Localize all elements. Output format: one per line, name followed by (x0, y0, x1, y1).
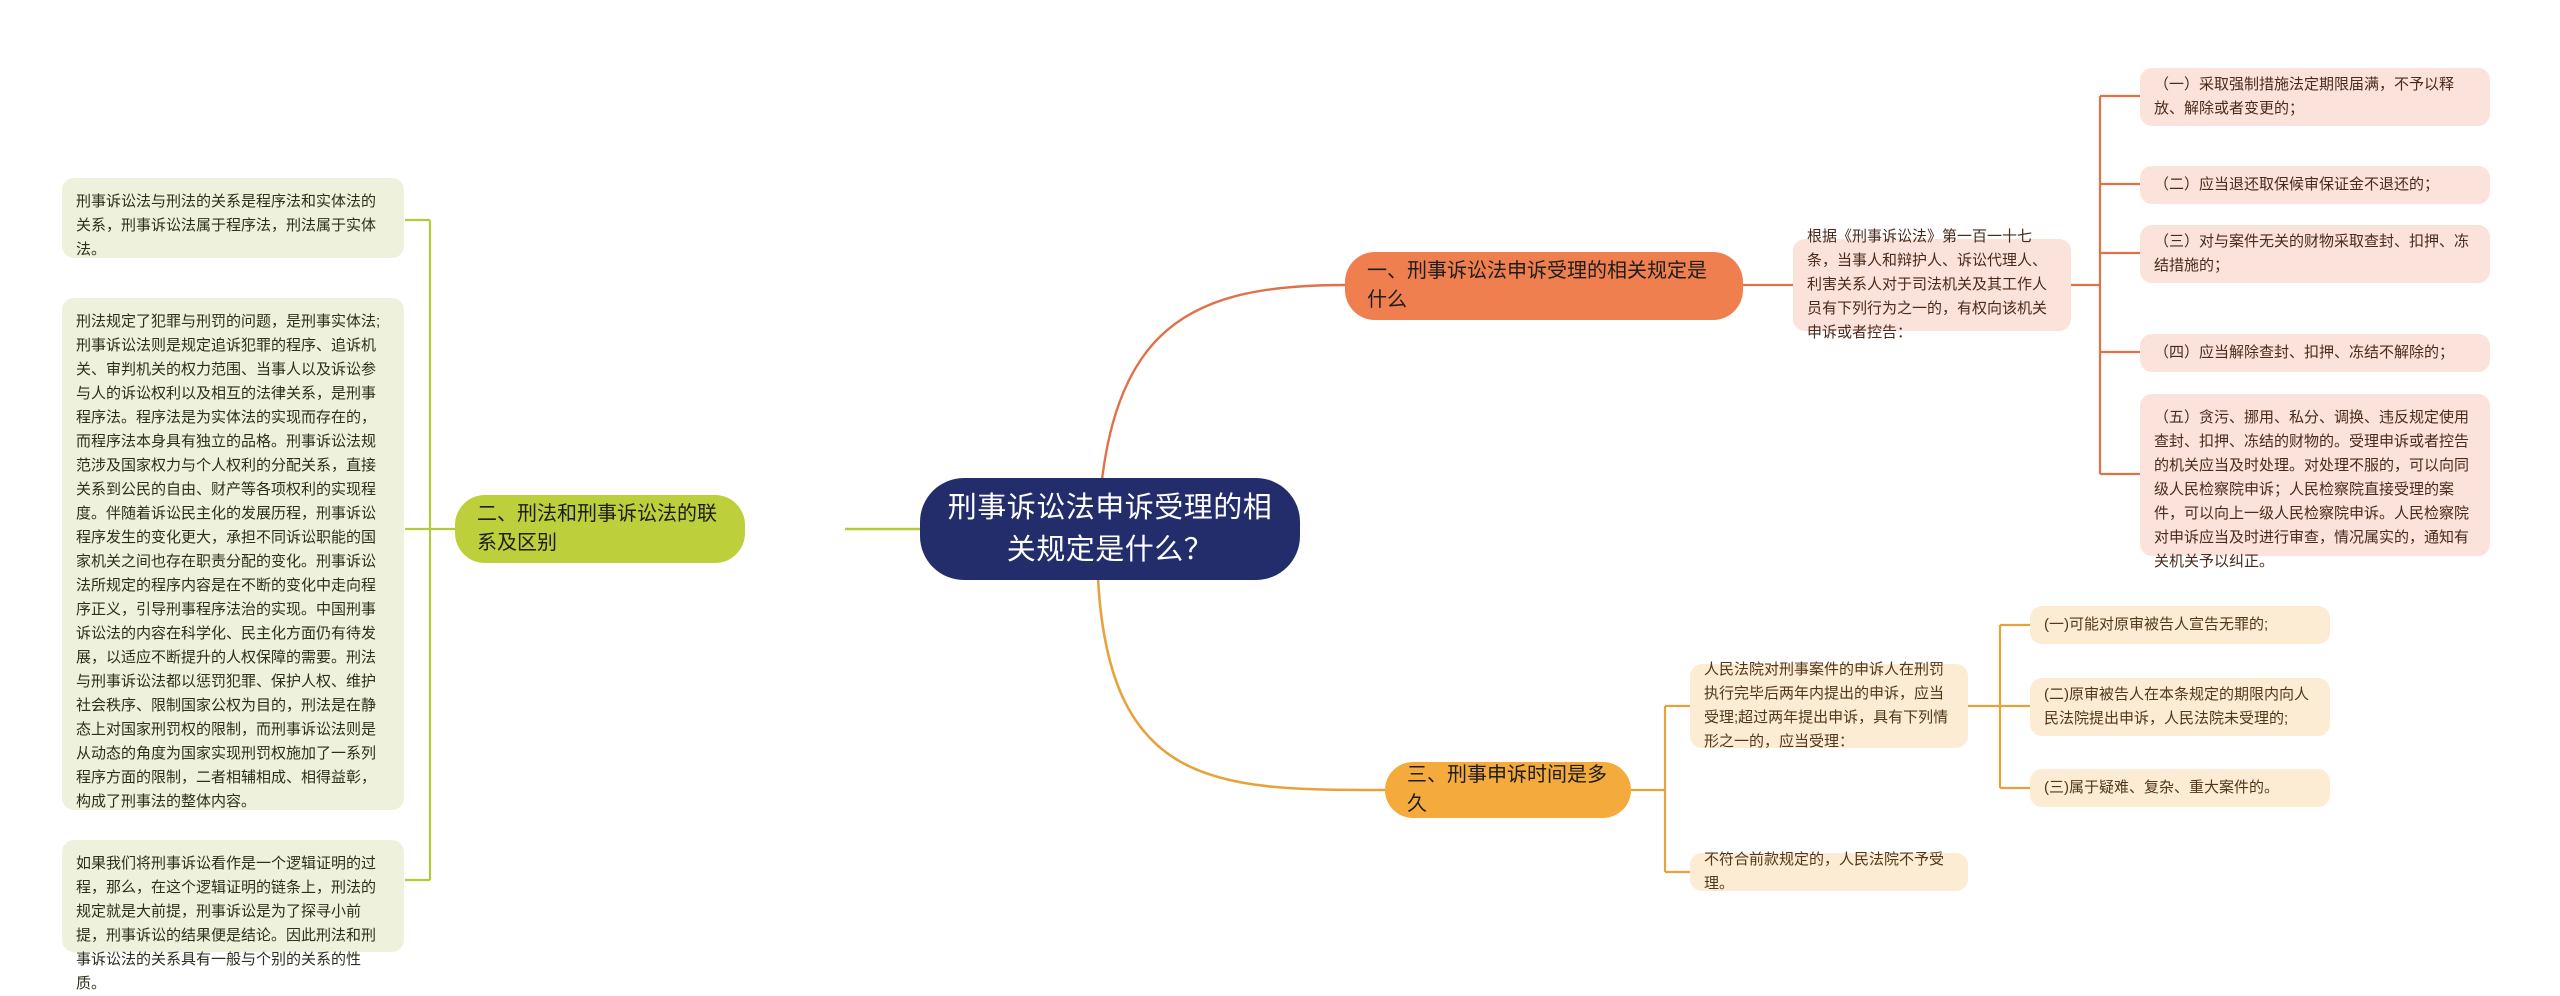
branch-1-item-4[interactable]: （五）贪污、挪用、私分、调换、违反规定使用查封、扣押、冻结的财物的。受理申诉或者… (2140, 394, 2490, 556)
branch-node-3[interactable]: 三、刑事申诉时间是多久 (1385, 762, 1631, 818)
branch-2-item-0-text: 刑事诉讼法与刑法的关系是程序法和实体法的关系，刑事诉讼法属于程序法，刑法属于实体… (76, 190, 390, 262)
branch-1-item-0[interactable]: （一）采取强制措施法定期限届满，不予以释放、解除或者变更的； (2140, 68, 2490, 126)
branch-node-2-label: 二、刑法和刑事诉讼法的联系及区别 (477, 500, 723, 558)
branch-1-item-2-text: （三）对与案件无关的财物采取查封、扣押、冻结措施的； (2154, 230, 2476, 278)
branch-2-item-2-text: 如果我们将刑事诉讼看作是一个逻辑证明的过程，那么，在这个逻辑证明的链条上，刑法的… (76, 852, 390, 996)
branch-node-1-label: 一、刑事诉讼法申诉受理的相关规定是什么 (1367, 257, 1721, 315)
branch-node-2[interactable]: 二、刑法和刑事诉讼法的联系及区别 (455, 495, 745, 563)
branch-1-item-1[interactable]: （二）应当退还取保候审保证金不退还的； (2140, 166, 2490, 204)
branch-2-item-1[interactable]: 刑法规定了犯罪与刑罚的问题，是刑事实体法;刑事诉讼法则是规定追诉犯罪的程序、追诉… (62, 298, 404, 810)
root-node[interactable]: 刑事诉讼法申诉受理的相关规定是什么？ (920, 478, 1300, 580)
branch-3-item-0-text: (一)可能对原审被告人宣告无罪的; (2044, 613, 2268, 637)
branch-node-1[interactable]: 一、刑事诉讼法申诉受理的相关规定是什么 (1345, 252, 1743, 320)
branch-2-item-2[interactable]: 如果我们将刑事诉讼看作是一个逻辑证明的过程，那么，在这个逻辑证明的链条上，刑法的… (62, 840, 404, 952)
mindmap-canvas: 刑事诉讼法申诉受理的相关规定是什么？ 一、刑事诉讼法申诉受理的相关规定是什么 根… (0, 0, 2560, 973)
branch-1-item-3-text: （四）应当解除查封、扣押、冻结不解除的； (2154, 341, 2454, 365)
branch-2-item-1-text: 刑法规定了犯罪与刑罚的问题，是刑事实体法;刑事诉讼法则是规定追诉犯罪的程序、追诉… (76, 310, 390, 814)
branch-1-item-0-text: （一）采取强制措施法定期限届满，不予以释放、解除或者变更的； (2154, 73, 2476, 121)
branch-1-intro-text: 根据《刑事诉讼法》第一百一十七条，当事人和辩护人、诉讼代理人、利害关系人对于司法… (1807, 225, 2057, 345)
branch-node-3-label: 三、刑事申诉时间是多久 (1407, 761, 1609, 819)
branch-1-item-3[interactable]: （四）应当解除查封、扣押、冻结不解除的； (2140, 334, 2490, 372)
branch-3-footer-text: 不符合前款规定的，人民法院不予受理。 (1704, 848, 1954, 896)
branch-2-item-0[interactable]: 刑事诉讼法与刑法的关系是程序法和实体法的关系，刑事诉讼法属于程序法，刑法属于实体… (62, 178, 404, 258)
branch-3-item-1[interactable]: (二)原审被告人在本条规定的期限内向人民法院提出申诉，人民法院未受理的; (2030, 678, 2330, 736)
branch-3-intro-text: 人民法院对刑事案件的申诉人在刑罚执行完毕后两年内提出的申诉，应当受理;超过两年提… (1704, 658, 1954, 754)
branch-1-item-4-text: （五）贪污、挪用、私分、调换、违反规定使用查封、扣押、冻结的财物的。受理申诉或者… (2154, 406, 2476, 574)
branch-3-item-0[interactable]: (一)可能对原审被告人宣告无罪的; (2030, 606, 2330, 644)
branch-1-item-2[interactable]: （三）对与案件无关的财物采取查封、扣押、冻结措施的； (2140, 225, 2490, 283)
branch-3-item-2[interactable]: (三)属于疑难、复杂、重大案件的。 (2030, 769, 2330, 807)
branch-1-item-1-text: （二）应当退还取保候审保证金不退还的； (2154, 173, 2439, 197)
branch-3-intro-card[interactable]: 人民法院对刑事案件的申诉人在刑罚执行完毕后两年内提出的申诉，应当受理;超过两年提… (1690, 664, 1968, 748)
branch-3-footer-card[interactable]: 不符合前款规定的，人民法院不予受理。 (1690, 853, 1968, 891)
branch-3-item-1-text: (二)原审被告人在本条规定的期限内向人民法院提出申诉，人民法院未受理的; (2044, 683, 2316, 731)
branch-1-intro-card[interactable]: 根据《刑事诉讼法》第一百一十七条，当事人和辩护人、诉讼代理人、利害关系人对于司法… (1793, 239, 2071, 331)
root-node-label: 刑事诉讼法申诉受理的相关规定是什么？ (946, 487, 1274, 571)
branch-3-item-2-text: (三)属于疑难、复杂、重大案件的。 (2044, 776, 2279, 800)
